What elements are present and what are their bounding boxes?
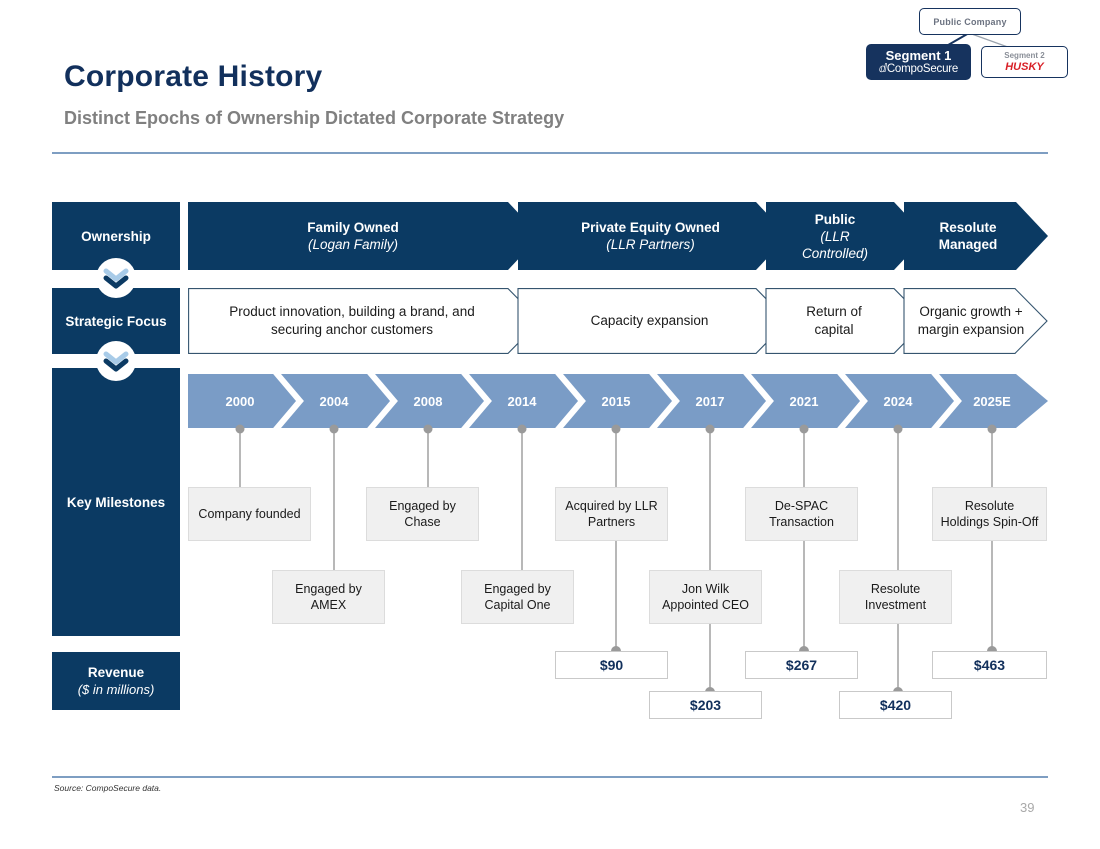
segment2-label: Segment 2 — [1004, 51, 1044, 61]
row-label-revenue-units: ($ in millions) — [78, 682, 155, 697]
revenue-box[interactable]: $420 — [839, 691, 952, 719]
milestone-box[interactable]: Company founded — [188, 487, 311, 541]
public-company-box: Public Company — [919, 8, 1021, 35]
ownership-chevrons — [188, 202, 1048, 270]
page-number: 39 — [1020, 800, 1034, 815]
revenue-box[interactable]: $203 — [649, 691, 762, 719]
milestone-box[interactable]: Jon Wilk Appointed CEO — [649, 570, 762, 624]
page-title: Corporate History — [64, 60, 322, 94]
husky-brand: HUSKY — [1005, 61, 1044, 73]
milestone-box[interactable]: Resolute Holdings Spin-Off — [932, 487, 1047, 541]
row-label-strategic-focus-text: Strategic Focus — [65, 314, 166, 329]
double-chevron-down-icon — [96, 258, 136, 298]
year-chevrons — [188, 374, 1048, 428]
milestone-box[interactable]: Engaged by AMEX — [272, 570, 385, 624]
strategic-focus-row: Product innovation, building a brand, an… — [188, 288, 1048, 354]
double-chevron-down-icon — [96, 341, 136, 381]
strategic-focus-chevrons — [188, 288, 1048, 354]
composecure-brand: ⅆCompoSecure — [879, 63, 958, 76]
revenue-box[interactable]: $267 — [745, 651, 858, 679]
row-label-ownership-text: Ownership — [81, 229, 151, 244]
timeline-year-band: 2000 2004 2008 2014 2015 2017 2021 2024 … — [188, 374, 1048, 428]
milestone-box[interactable]: De-SPAC Transaction — [745, 487, 858, 541]
footer-divider — [52, 776, 1048, 778]
milestone-box[interactable]: Acquired by LLR Partners — [555, 487, 668, 541]
row-label-key-milestones: Key Milestones — [52, 368, 180, 636]
public-company-label: Public Company — [933, 17, 1006, 27]
revenue-box[interactable]: $463 — [932, 651, 1047, 679]
corporate-structure-logo: Public Company Segment 1 ⅆCompoSecure Se… — [866, 6, 1066, 84]
page-subtitle: Distinct Epochs of Ownership Dictated Co… — [64, 108, 564, 129]
header-divider — [52, 152, 1048, 154]
milestone-box[interactable]: Resolute Investment — [839, 570, 952, 624]
source-note: Source: CompoSecure data. — [54, 783, 161, 793]
segment2-box: Segment 2 HUSKY — [981, 46, 1068, 78]
row-label-revenue-text: Revenue — [88, 665, 144, 680]
revenue-box[interactable]: $90 — [555, 651, 668, 679]
milestone-box[interactable]: Engaged by Capital One — [461, 570, 574, 624]
slide: Corporate History Distinct Epochs of Own… — [0, 0, 1100, 849]
row-label-key-milestones-text: Key Milestones — [67, 495, 165, 510]
segment1-label: Segment 1 — [886, 49, 952, 63]
row-label-revenue: Revenue ($ in millions) — [52, 652, 180, 710]
ownership-row: Family Owned (Logan Family) Private Equi… — [188, 202, 1048, 270]
milestone-box[interactable]: Engaged by Chase — [366, 487, 479, 541]
segment1-box: Segment 1 ⅆCompoSecure — [866, 44, 971, 80]
